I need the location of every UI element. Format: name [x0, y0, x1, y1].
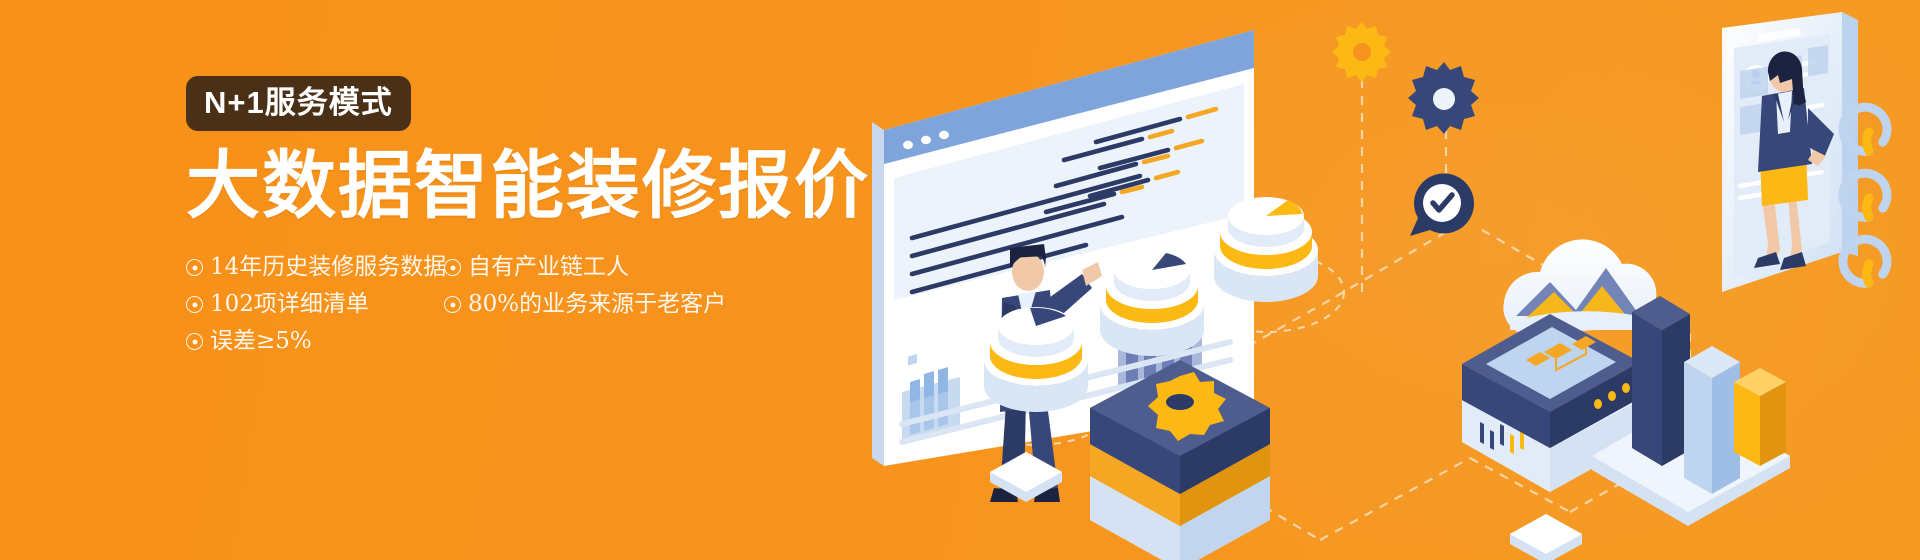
- list-item: 自有产业链工人: [444, 256, 876, 279]
- gear-navy-icon: [1408, 62, 1479, 134]
- circled-dot-icon: [444, 259, 461, 276]
- list-item: 102项详细清单: [186, 293, 444, 316]
- circled-dot-icon: [186, 333, 203, 350]
- list-item: 误差≥5%: [186, 330, 444, 353]
- page-title: 大数据智能装修报价: [186, 148, 876, 223]
- list-item-label: 误差≥5%: [210, 330, 312, 353]
- circled-dot-icon: [186, 296, 203, 313]
- floating-tiles: [990, 452, 1582, 560]
- promo-banner: N+1服务模式 大数据智能装修报价 14年历史装修服务数据 102项详细清单 误…: [0, 0, 1920, 560]
- check-badge-icon: [1410, 173, 1474, 236]
- feature-list: 14年历史装修服务数据 102项详细清单 误差≥5% 自有产业链工人 80%的业…: [186, 249, 876, 360]
- gear-orange-icon: [1332, 22, 1391, 82]
- list-item-label: 102项详细清单: [210, 293, 369, 316]
- list-item: 14年历史装修服务数据: [186, 256, 444, 279]
- ring-arcs: [1837, 102, 1892, 289]
- service-mode-badge: N+1服务模式: [186, 76, 411, 131]
- hero-illustration: [850, 0, 1920, 560]
- circled-dot-icon: [444, 296, 461, 313]
- list-item-label: 14年历史装修服务数据: [210, 256, 446, 279]
- list-item-label: 80%的业务来源于老客户: [468, 293, 726, 316]
- list-item-label: 自有产业链工人: [468, 256, 629, 279]
- list-item: 80%的业务来源于老客户: [444, 293, 876, 316]
- banner-copy: N+1服务模式 大数据智能装修报价 14年历史装修服务数据 102项详细清单 误…: [186, 76, 876, 360]
- circled-dot-icon: [186, 259, 203, 276]
